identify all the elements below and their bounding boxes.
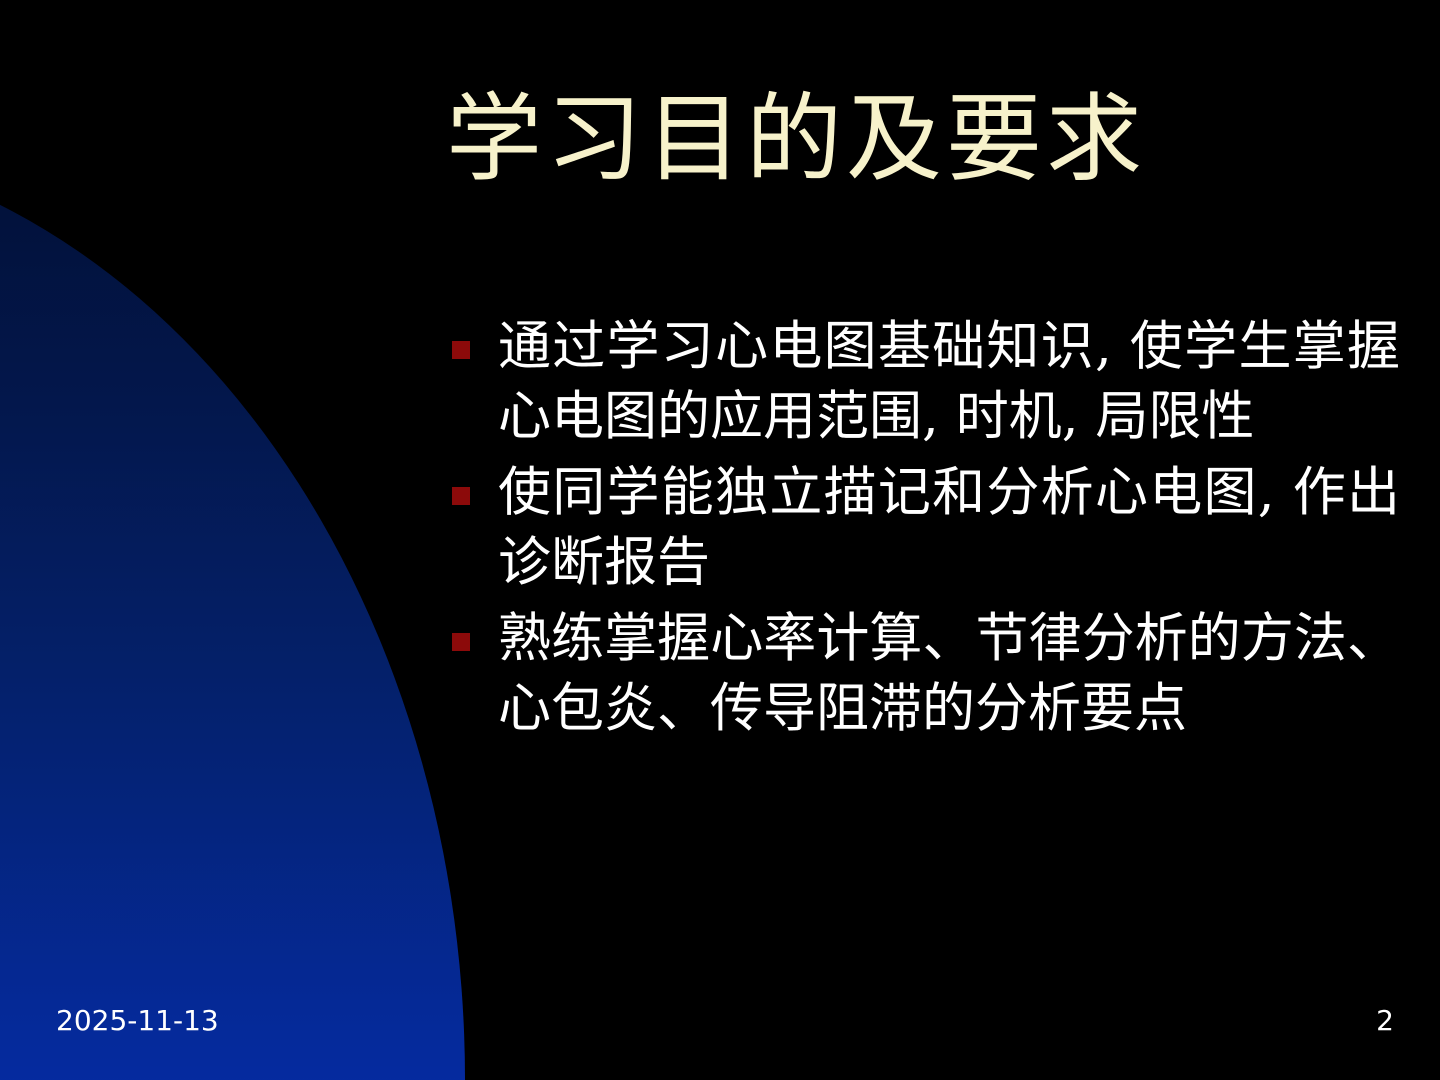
- list-item[interactable]: 熟练掌握心率计算、节律分析的方法、心包炎、传导阻滞的分析要点: [452, 604, 1400, 744]
- slide-title-block: 学习目的及要求: [180, 86, 1412, 194]
- list-item-label: 熟练掌握心率计算、节律分析的方法、心包炎、传导阻滞的分析要点: [498, 604, 1400, 744]
- list-item[interactable]: 通过学习心电图基础知识, 使学生掌握心电图的应用范围, 时机, 局限性: [452, 312, 1400, 452]
- decorative-blue-arc: [0, 140, 465, 1080]
- square-bullet-icon: [452, 341, 470, 359]
- square-bullet-icon: [452, 487, 470, 505]
- footer-date: 2025-11-13: [56, 1004, 219, 1037]
- list-item[interactable]: 使同学能独立描记和分析心电图, 作出诊断报告: [452, 458, 1400, 598]
- square-bullet-icon: [452, 633, 470, 651]
- list-item-label: 使同学能独立描记和分析心电图, 作出诊断报告: [498, 458, 1400, 598]
- page-title: 学习目的及要求: [446, 86, 1146, 194]
- bullet-list: 通过学习心电图基础知识, 使学生掌握心电图的应用范围, 时机, 局限性 使同学能…: [452, 312, 1400, 750]
- slide-number: 2: [1376, 1004, 1394, 1037]
- presentation-slide: 学习目的及要求 通过学习心电图基础知识, 使学生掌握心电图的应用范围, 时机, …: [0, 0, 1440, 1080]
- list-item-label: 通过学习心电图基础知识, 使学生掌握心电图的应用范围, 时机, 局限性: [498, 312, 1400, 452]
